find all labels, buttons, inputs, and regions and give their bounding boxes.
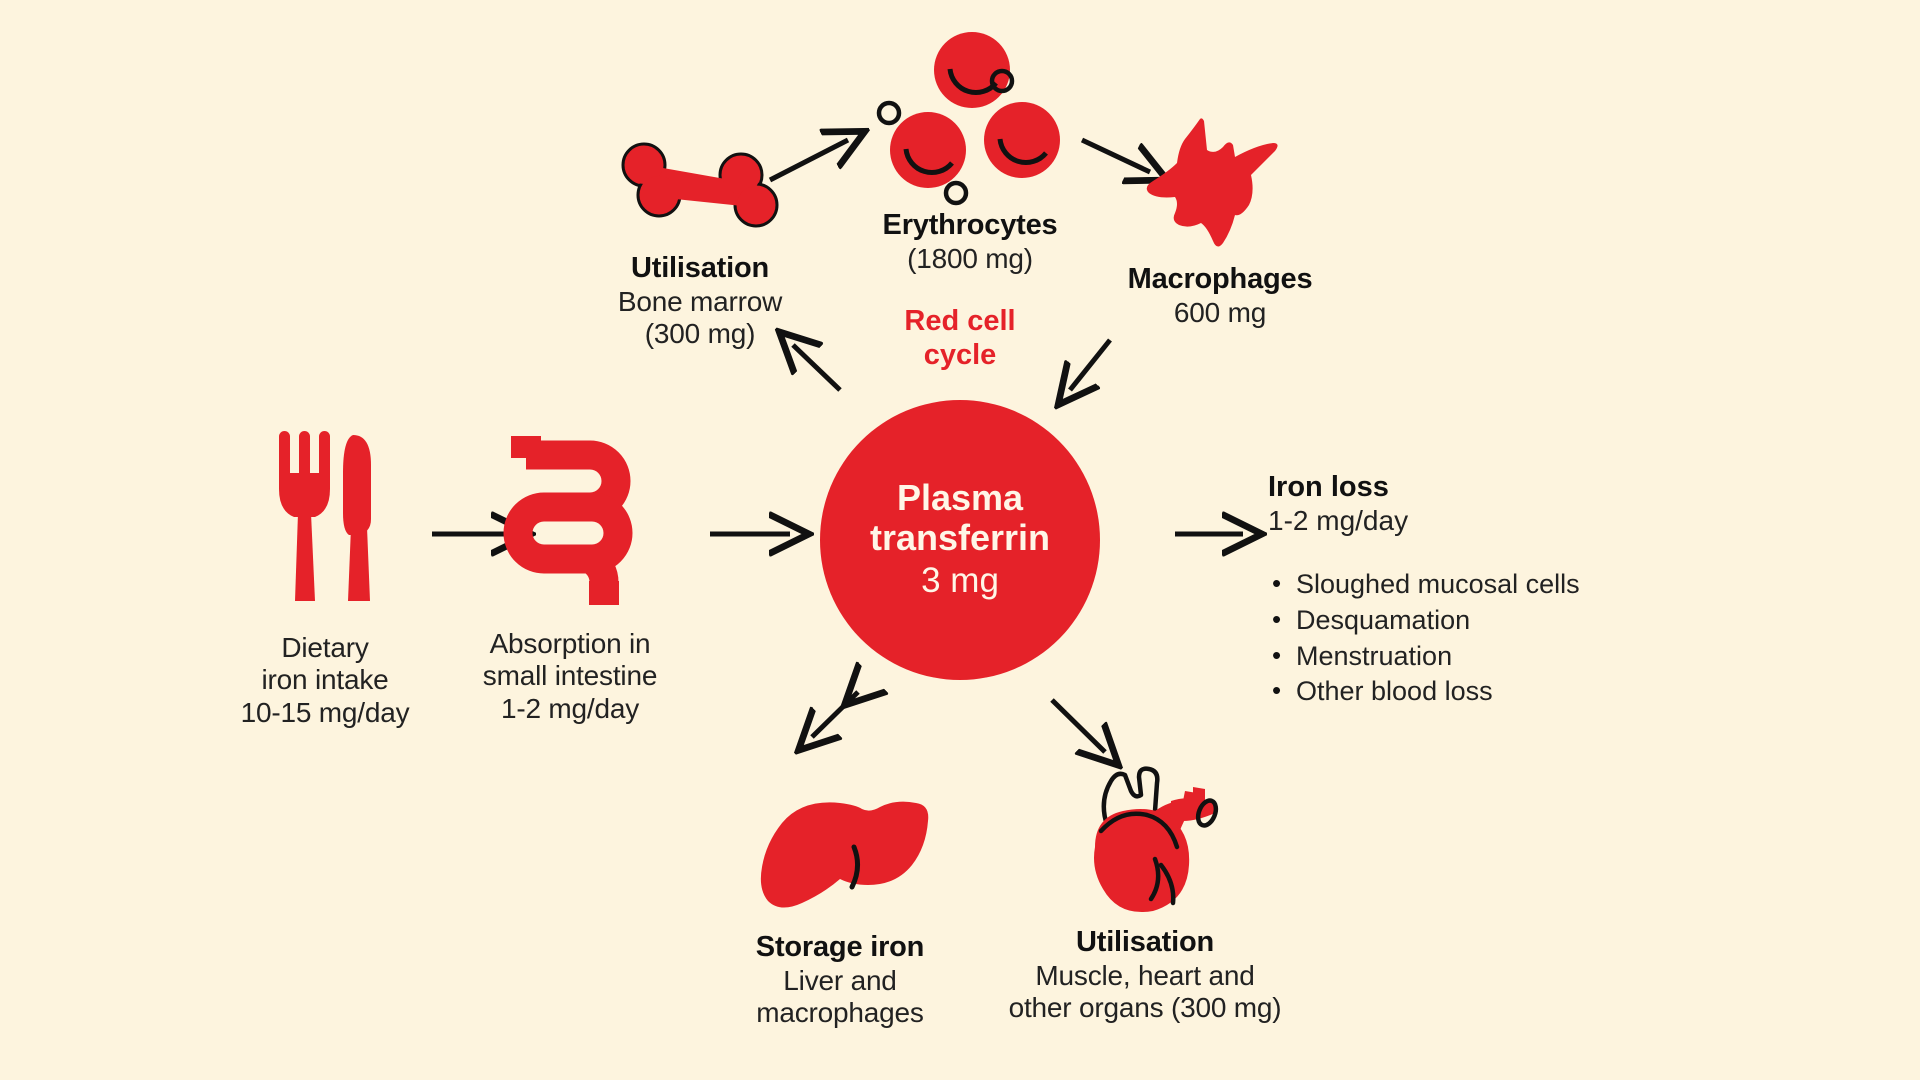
bone-marrow-node: Utilisation Bone marrow (300 mg) (560, 130, 840, 351)
dietary-iron-intake-node: Dietary iron intake 10-15 mg/day (200, 420, 450, 729)
iron-metabolism-diagram: Plasma transferrin 3 mg Red cell cycle (0, 0, 1920, 1080)
iron-loss-rate: 1-2 mg/day (1268, 504, 1698, 537)
macrophage-icon (1095, 105, 1345, 255)
iron-loss-title: Iron loss (1268, 470, 1698, 504)
storage-iron-label: Storage iron Liver and macrophages (690, 931, 990, 1030)
liver-icon (690, 760, 990, 925)
iron-loss-causes-list: Sloughed mucosal cells Desquamation Mens… (1268, 567, 1698, 710)
arrow-plasma-to-bonemarrow (793, 345, 840, 390)
bone-marrow-label: Utilisation Bone marrow (300 mg) (560, 252, 840, 351)
list-item: Other blood loss (1268, 674, 1698, 710)
macrophages-node: Macrophages 600 mg (1095, 105, 1345, 329)
plasma-transferrin-title: Plasma transferrin (870, 478, 1050, 559)
small-intestine-icon (440, 430, 700, 610)
erythrocytes-node: Erythrocytes (1800 mg) (845, 25, 1095, 275)
arrow-plasma-to-utilisation-organs (1052, 700, 1105, 752)
list-item: Desquamation (1268, 603, 1698, 639)
heart-icon (985, 755, 1305, 920)
red-cell-cycle-caption: Red cell cycle (840, 305, 1080, 372)
utilisation-organs-label: Utilisation Muscle, heart and other orga… (985, 926, 1305, 1025)
utilisation-organs-node: Utilisation Muscle, heart and other orga… (985, 755, 1305, 1025)
absorption-label: Absorption in small intestine 1-2 mg/day (440, 628, 700, 725)
macrophages-label: Macrophages 600 mg (1095, 263, 1345, 329)
absorption-node: Absorption in small intestine 1-2 mg/day (440, 430, 700, 725)
list-item: Sloughed mucosal cells (1268, 567, 1698, 603)
erythrocytes-icon (845, 25, 1095, 205)
plasma-transferrin-node: Plasma transferrin 3 mg (820, 400, 1100, 680)
fork-and-knife-icon (200, 420, 450, 610)
erythrocytes-label: Erythrocytes (1800 mg) (845, 209, 1095, 275)
dietary-iron-intake-label: Dietary iron intake 10-15 mg/day (200, 632, 450, 729)
bone-icon (560, 130, 840, 240)
list-item: Menstruation (1268, 639, 1698, 675)
iron-loss-node: Iron loss 1-2 mg/day Sloughed mucosal ce… (1268, 470, 1698, 710)
plasma-transferrin-amount: 3 mg (921, 560, 999, 602)
arrow-plasma-to-storage (812, 692, 858, 737)
storage-iron-node: Storage iron Liver and macrophages (690, 760, 990, 1030)
